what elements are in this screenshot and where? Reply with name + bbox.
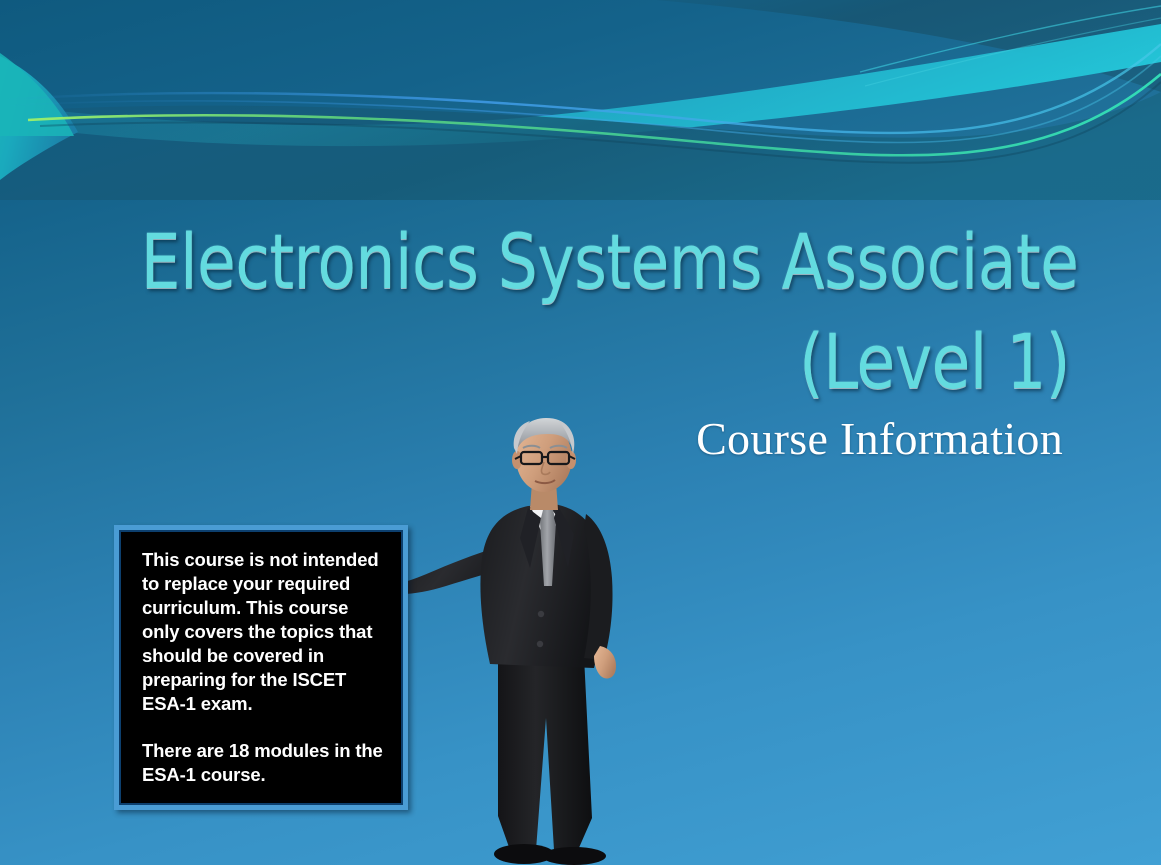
wave-shadow-hairline (40, 82, 1161, 163)
title-line-2: (Level 1) (141, 312, 1070, 412)
callout-paragraph-2: There are 18 modules in the ESA-1 course… (142, 739, 387, 787)
presenter-ear-right (566, 451, 576, 469)
decorative-wave-banner (0, 0, 1161, 200)
callout-box: This course is not intended to replace y… (114, 525, 408, 810)
presentation-slide: Electronics Systems Associate (Level 1) … (0, 0, 1161, 865)
slide-title: Electronics Systems Associate (Level 1) (60, 212, 1070, 413)
callout-inner-frame: This course is not intended to replace y… (119, 530, 403, 805)
wave-blue-hairline (0, 44, 1161, 133)
wave-green-hairline (28, 74, 1161, 155)
wave-cyan-band (0, 24, 1161, 146)
wave-teal-wedge-core (0, 40, 74, 136)
presenter-photo (378, 418, 708, 865)
presenter-shoe-right (542, 847, 606, 865)
presenter-jacket-button-1 (538, 611, 544, 617)
slide-subtitle: Course Information (696, 412, 1063, 465)
presenter-jacket-button-2 (537, 641, 543, 647)
wave-mid-band (0, 92, 1161, 200)
callout-paragraph-1: This course is not intended to replace y… (142, 548, 387, 716)
presenter-right-hand (594, 646, 616, 679)
wave-dark-upper (520, 0, 1161, 92)
wave-blue-hairline-2 (0, 56, 1161, 143)
presenter-trousers (498, 656, 592, 850)
title-line-1: Electronics Systems Associate (141, 212, 1070, 312)
wave-strand-a (860, 6, 1161, 72)
wave-teal-wedge (0, 56, 78, 180)
wave-strand-b (865, 18, 1161, 86)
